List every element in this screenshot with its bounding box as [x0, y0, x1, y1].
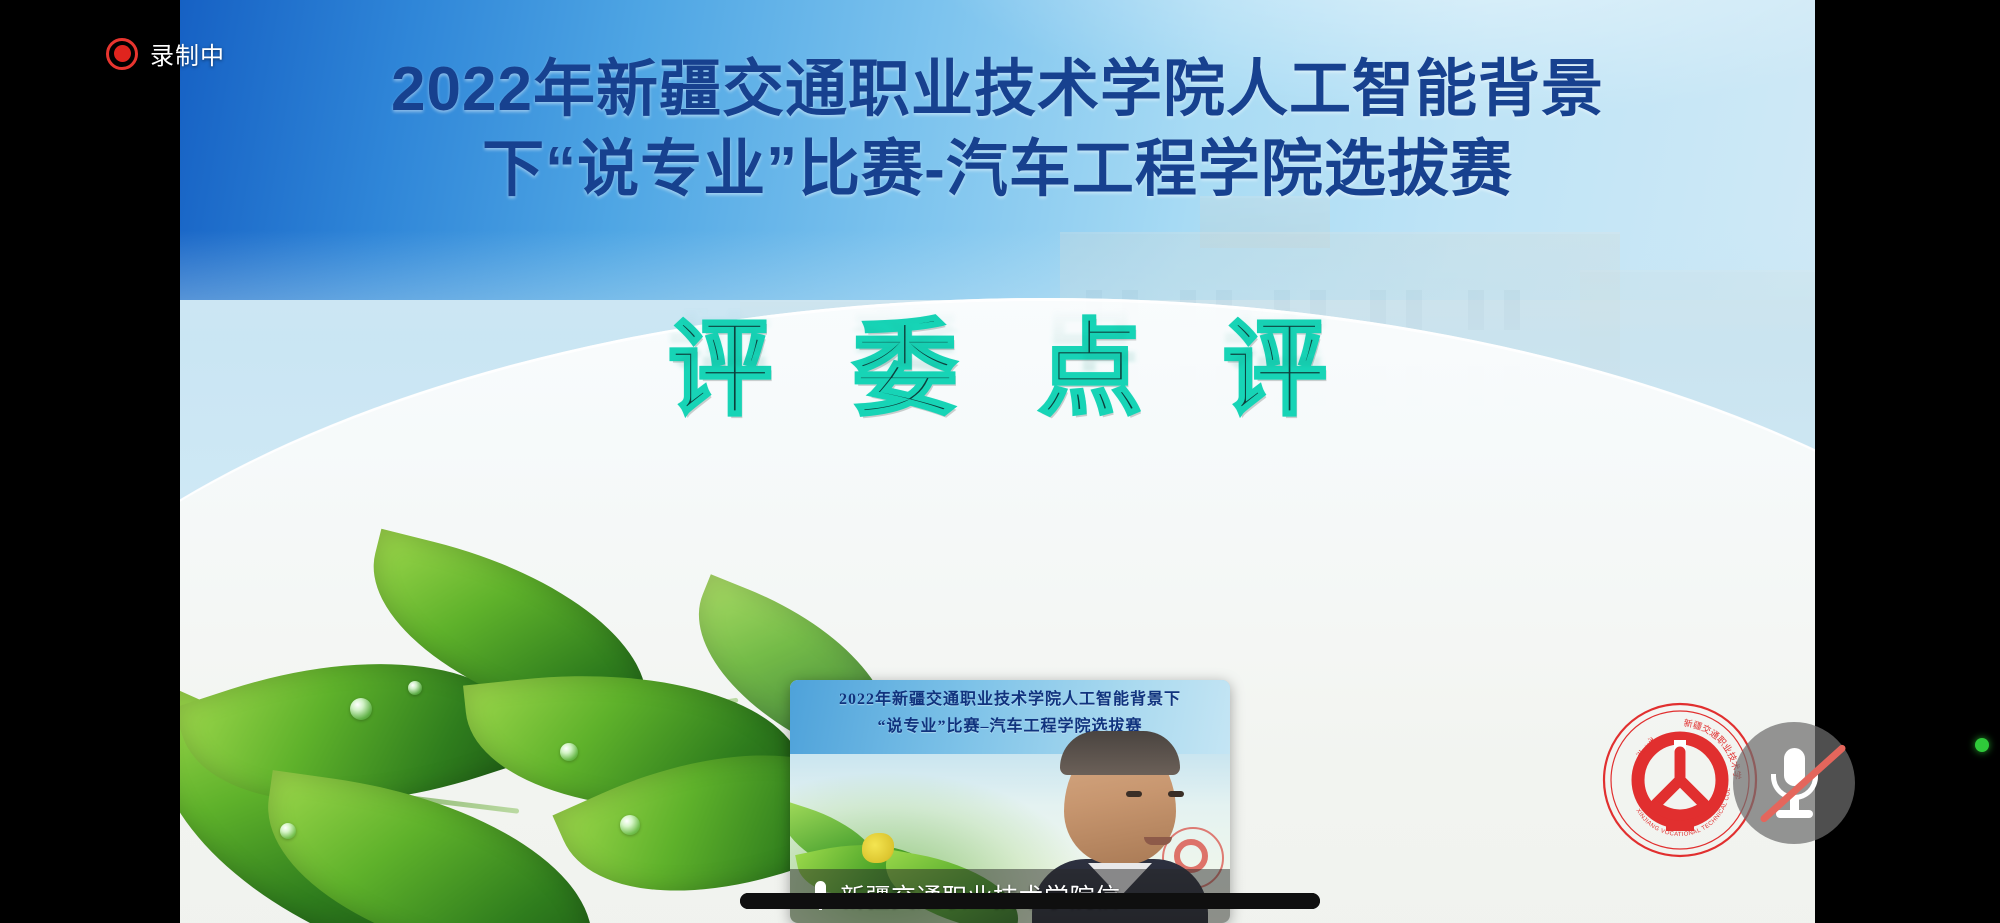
playback-progress-bar[interactable] [740, 893, 1320, 909]
slide-title-line-2: 下“说专业”比赛-汽车工程学院选拔赛 [180, 130, 1815, 210]
recording-label: 录制中 [150, 36, 225, 71]
slide-headline: 评 委 点 评 [180, 284, 1815, 435]
pip-flower-shape [862, 833, 894, 863]
screen-share-view: 2022年新疆交通职业技术学院人工智能背景 下“说专业”比赛-汽车工程学院选拔赛… [0, 0, 2000, 923]
pip-banner-title: 2022年新疆交通职业技术学院人工智能背景下 “说专业”比赛–汽车工程学院选拔赛 [790, 686, 1230, 740]
participant-video-tile[interactable]: 2022年新疆交通职业技术学院人工智能背景下 “说专业”比赛–汽车工程学院选拔赛… [790, 680, 1230, 923]
playback-progress-fill [740, 893, 1320, 909]
pip-banner-line-1: 2022年新疆交通职业技术学院人工智能背景下 [790, 686, 1230, 713]
slide-title-line-1: 2022年新疆交通职业技术学院人工智能背景 [391, 55, 1604, 124]
microphone-muted-icon [1765, 746, 1823, 820]
participant-eye [1126, 791, 1142, 797]
recording-indicator: 录制中 [106, 36, 225, 71]
record-dot-icon [106, 38, 138, 70]
camera-active-dot-icon [1975, 738, 1989, 752]
letterbox-left [0, 0, 180, 923]
microphone-muted-button[interactable] [1733, 722, 1855, 844]
participant-eye [1168, 791, 1184, 797]
slide-title: 2022年新疆交通职业技术学院人工智能背景 下“说专业”比赛-汽车工程学院选拔赛 [180, 50, 1815, 210]
participant-mouth [1144, 837, 1172, 845]
participant-hair [1060, 731, 1180, 775]
